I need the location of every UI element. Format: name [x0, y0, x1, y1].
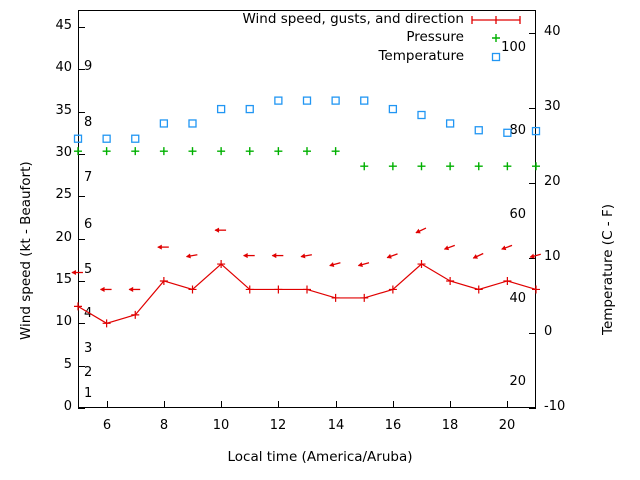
y-tick-label: 20 [30, 230, 72, 245]
y-tick-label: 45 [30, 18, 72, 33]
x-axis-title: Local time (America/Aruba) [0, 449, 640, 465]
y2-tick-label: 0 [544, 324, 552, 339]
x-tick [450, 401, 451, 408]
y2-axis-title: Temperature (C - F) [600, 204, 616, 335]
legend-label: Pressure [78, 29, 464, 45]
beaufort-label: 8 [84, 115, 92, 130]
x-tick-label: 18 [440, 418, 460, 433]
y-tick-label: 40 [30, 60, 72, 75]
y-tick-label: 5 [30, 357, 72, 372]
y-tick-label: 30 [30, 145, 72, 160]
x-tick-label: 10 [211, 418, 231, 433]
x-tick-label: 14 [326, 418, 346, 433]
legend-marker [470, 11, 526, 29]
y2-tick [529, 33, 536, 34]
x-tick-label: 6 [97, 418, 117, 433]
plot-area [78, 10, 536, 408]
beaufort-label: 3 [84, 341, 92, 356]
x-tick [221, 401, 222, 408]
y2-tick-label: 20 [544, 174, 561, 189]
y2-tick-label: 40 [544, 24, 561, 39]
y-tick-label: 0 [30, 399, 72, 414]
legend-marker [470, 29, 526, 47]
x-tick [107, 401, 108, 408]
legend-label: Wind speed, gusts, and direction [78, 11, 464, 27]
y2-tick-label: 30 [544, 99, 561, 114]
beaufort-label: 2 [84, 365, 92, 380]
fahrenheit-label: 60 [506, 207, 526, 222]
fahrenheit-label: 80 [506, 123, 526, 138]
beaufort-label: 1 [84, 386, 92, 401]
x-tick [393, 401, 394, 408]
x-tick-label: 20 [497, 418, 517, 433]
beaufort-label: 7 [84, 170, 92, 185]
y-tick-label: 35 [30, 103, 72, 118]
y-tick-label: 15 [30, 272, 72, 287]
y-tick [78, 196, 85, 197]
y-tick [78, 154, 85, 155]
y2-tick-label: 10 [544, 249, 561, 264]
legend-marker [470, 48, 526, 66]
y-tick [78, 323, 85, 324]
fahrenheit-label: 40 [506, 291, 526, 306]
y-tick [78, 27, 85, 28]
y-tick [78, 408, 85, 409]
y2-tick [529, 408, 536, 409]
beaufort-label: 6 [84, 217, 92, 232]
x-tick [507, 401, 508, 408]
x-tick-label: 8 [154, 418, 174, 433]
y-tick [78, 239, 85, 240]
y2-tick [529, 258, 536, 259]
x-tick-label: 16 [383, 418, 403, 433]
beaufort-label: 4 [84, 306, 92, 321]
legend-label: Temperature [78, 48, 464, 64]
beaufort-label: 5 [84, 262, 92, 277]
y2-tick-label: -10 [544, 399, 565, 414]
chart-canvas: Wind speed (kt - Beaufort) Temperature (… [0, 0, 640, 480]
y-tick-label: 25 [30, 187, 72, 202]
x-tick-label: 12 [268, 418, 288, 433]
y2-tick [529, 183, 536, 184]
y-tick-label: 10 [30, 314, 72, 329]
y-tick [78, 281, 85, 282]
y2-tick [529, 108, 536, 109]
y-tick [78, 112, 85, 113]
fahrenheit-label: 20 [506, 374, 526, 389]
x-tick [278, 401, 279, 408]
y2-tick [529, 333, 536, 334]
x-tick [164, 401, 165, 408]
x-tick [336, 401, 337, 408]
